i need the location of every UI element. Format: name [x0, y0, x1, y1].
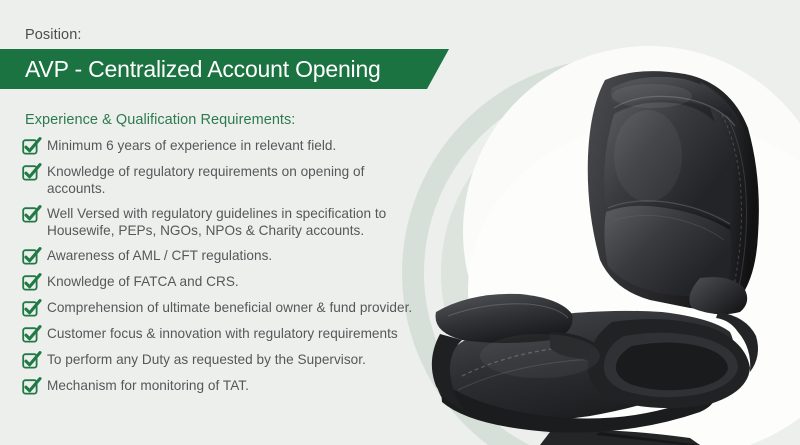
checkbox-checked-icon	[23, 353, 39, 369]
requirement-text: Well Versed with regulatory guidelines i…	[47, 206, 423, 239]
job-position-poster: Position: AVP - Centralized Account Open…	[0, 0, 800, 445]
list-item: Awareness of AML / CFT regulations.	[23, 248, 423, 265]
checkbox-checked-icon	[23, 165, 39, 181]
requirement-text: Knowledge of regulatory requirements on …	[47, 164, 423, 197]
requirement-text: To perform any Duty as requested by the …	[47, 352, 366, 369]
list-item: Customer focus & innovation with regulat…	[23, 326, 423, 343]
checkbox-checked-icon	[23, 249, 39, 265]
list-item: Mechanism for monitoring of TAT.	[23, 378, 423, 395]
checkbox-checked-icon	[23, 207, 39, 223]
requirements-heading: Experience & Qualification Requirements:	[25, 112, 295, 128]
requirements-list: Minimum 6 years of experience in relevan…	[23, 138, 423, 404]
list-item: Minimum 6 years of experience in relevan…	[23, 138, 423, 155]
job-title-banner: AVP - Centralized Account Opening	[0, 49, 449, 89]
list-item: Knowledge of FATCA and CRS.	[23, 274, 423, 291]
requirement-text: Minimum 6 years of experience in relevan…	[47, 138, 336, 155]
poster-content: Position: AVP - Centralized Account Open…	[0, 0, 440, 445]
list-item: To perform any Duty as requested by the …	[23, 352, 423, 369]
office-chair-image	[400, 60, 800, 445]
requirement-text: Mechanism for monitoring of TAT.	[47, 378, 249, 395]
requirement-text: Knowledge of FATCA and CRS.	[47, 274, 239, 291]
list-item: Comprehension of ultimate beneficial own…	[23, 300, 423, 317]
requirement-text: Customer focus & innovation with regulat…	[47, 326, 398, 343]
requirement-text: Awareness of AML / CFT regulations.	[47, 248, 272, 265]
checkbox-checked-icon	[23, 379, 39, 395]
checkbox-checked-icon	[23, 275, 39, 291]
checkbox-checked-icon	[23, 327, 39, 343]
position-label: Position:	[25, 27, 82, 43]
page-title: AVP - Centralized Account Opening	[0, 56, 381, 83]
checkbox-checked-icon	[23, 139, 39, 155]
checkbox-checked-icon	[23, 301, 39, 317]
requirement-text: Comprehension of ultimate beneficial own…	[47, 300, 412, 317]
list-item: Knowledge of regulatory requirements on …	[23, 164, 423, 197]
list-item: Well Versed with regulatory guidelines i…	[23, 206, 423, 239]
